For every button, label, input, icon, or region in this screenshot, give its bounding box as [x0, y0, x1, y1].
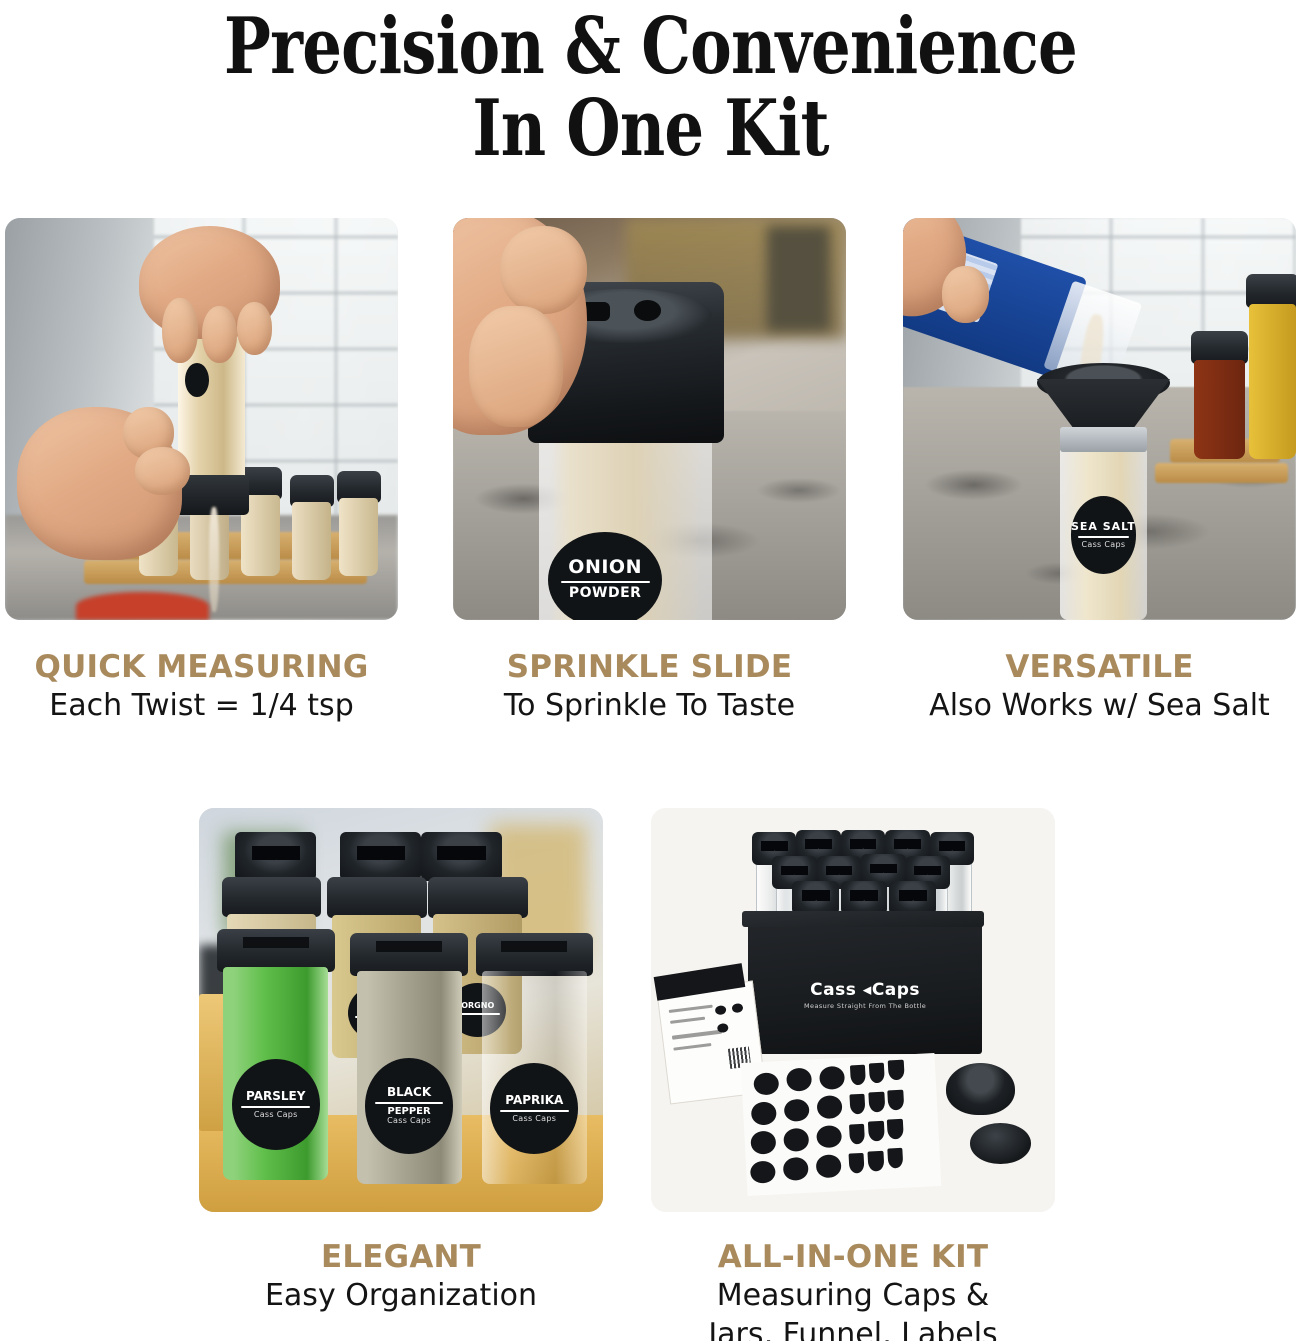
feature-heading: VERSATILE [903, 648, 1296, 686]
kit-spare-cap [970, 1123, 1031, 1163]
page-title: Precision & Convenience In One Kit [0, 6, 1301, 170]
jar-label-sea-salt: SEA SALT Cass Caps [1071, 496, 1137, 573]
feature-caption-all-in-one-kit: ALL-IN-ONE KIT Measuring Caps & Jars, Fu… [651, 1238, 1055, 1341]
jar-label-paprika: PAPRIKA Cass Caps [490, 1063, 578, 1153]
jar-label-black-pepper: BLACK PEPPER Cass Caps [365, 1058, 453, 1153]
jar-label-line1: PARSLEY [246, 1090, 305, 1103]
jar-parsley: PARSLEY Cass Caps [223, 929, 328, 1179]
feature-photo-versatile: SEA SALT Cass Caps [903, 218, 1296, 620]
sea-salt-jar: SEA SALT Cass Caps [1060, 427, 1146, 620]
feature-heading: QUICK MEASURING [5, 648, 398, 686]
jar-label-brand: Cass Caps [1081, 541, 1125, 549]
feature-caption-quick-measuring: QUICK MEASURING Each Twist = 1/4 tsp [5, 648, 398, 725]
feature-subtitle: Each Twist = 1/4 tsp [5, 686, 398, 725]
feature-photo-quick-measuring [5, 218, 398, 620]
kit-funnel [946, 1063, 1015, 1116]
feature-subtitle: To Sprinkle To Taste [453, 686, 846, 725]
kit-logo-word-2: Caps [872, 980, 920, 1000]
infographic-page: Precision & Convenience In One Kit [0, 0, 1301, 1341]
feature-subtitle-line-2: Jars, Funnel, Labels [651, 1315, 1055, 1341]
jar-label-line1: SEA SALT [1071, 521, 1136, 533]
feature-caption-versatile: VERSATILE Also Works w/ Sea Salt [903, 648, 1296, 725]
jar-label-line1: BLACK [387, 1086, 431, 1099]
jar-label-line1: ONION [568, 558, 642, 578]
kit-box-tagline: Measure Straight From The Bottle [748, 1002, 982, 1010]
jar-label-line1: PAPRIKA [505, 1094, 563, 1107]
kit-logo-arrow-icon: ◂ [863, 980, 872, 1000]
feature-photo-all-in-one-kit: Cass ◂Caps Measure Straight From The Bot… [651, 808, 1055, 1212]
jar-black-pepper: BLACK PEPPER Cass Caps [357, 933, 462, 1183]
jar-label-parsley: PARSLEY Cass Caps [232, 1059, 320, 1149]
jar-label-brand: Cass Caps [387, 1117, 431, 1125]
jar-paprika: PAPRIKA Cass Caps [482, 933, 587, 1183]
label-sheet [741, 1053, 942, 1196]
feature-card-quick-measuring: QUICK MEASURING Each Twist = 1/4 tsp [5, 218, 398, 725]
title-line-2: In One Kit [130, 88, 1171, 170]
kit-box: Cass ◂Caps Measure Straight From The Bot… [748, 917, 982, 1054]
kit-box-logo: Cass ◂Caps Measure Straight From The Bot… [748, 980, 982, 1010]
feature-caption-elegant: ELEGANT Easy Organization [199, 1238, 603, 1315]
feature-card-versatile: SEA SALT Cass Caps VERSATILE Also Works … [903, 218, 1296, 725]
jar-label-brand: Cass Caps [254, 1111, 298, 1119]
feature-heading: ELEGANT [199, 1238, 603, 1276]
feature-heading: SPRINKLE SLIDE [453, 648, 846, 686]
onion-powder-jar: ONION POWDER [539, 427, 712, 620]
feature-subtitle: Also Works w/ Sea Salt [903, 686, 1296, 725]
kit-logo-word-1: Cass [810, 980, 856, 1000]
feature-subtitle-line-1: Measuring Caps & [651, 1276, 1055, 1315]
feature-heading: ALL-IN-ONE KIT [651, 1238, 1055, 1276]
feature-subtitle: Easy Organization [199, 1276, 603, 1315]
jar-label-brand: Cass Caps [512, 1115, 556, 1123]
feature-photo-sprinkle-slide: ONION POWDER [453, 218, 846, 620]
title-line-1: Precision & Convenience [130, 6, 1171, 88]
feature-card-all-in-one-kit: Cass ◂Caps Measure Straight From The Bot… [651, 808, 1055, 1341]
feature-photo-elegant: PARSLEY ORGNO PARSLEY [199, 808, 603, 1212]
feature-caption-sprinkle-slide: SPRINKLE SLIDE To Sprinkle To Taste [453, 648, 846, 725]
feature-card-sprinkle-slide: ONION POWDER SPRINKLE SLIDE [453, 218, 846, 725]
feature-card-elegant: PARSLEY ORGNO PARSLEY [199, 808, 603, 1315]
jar-label-line2: POWDER [569, 586, 642, 601]
